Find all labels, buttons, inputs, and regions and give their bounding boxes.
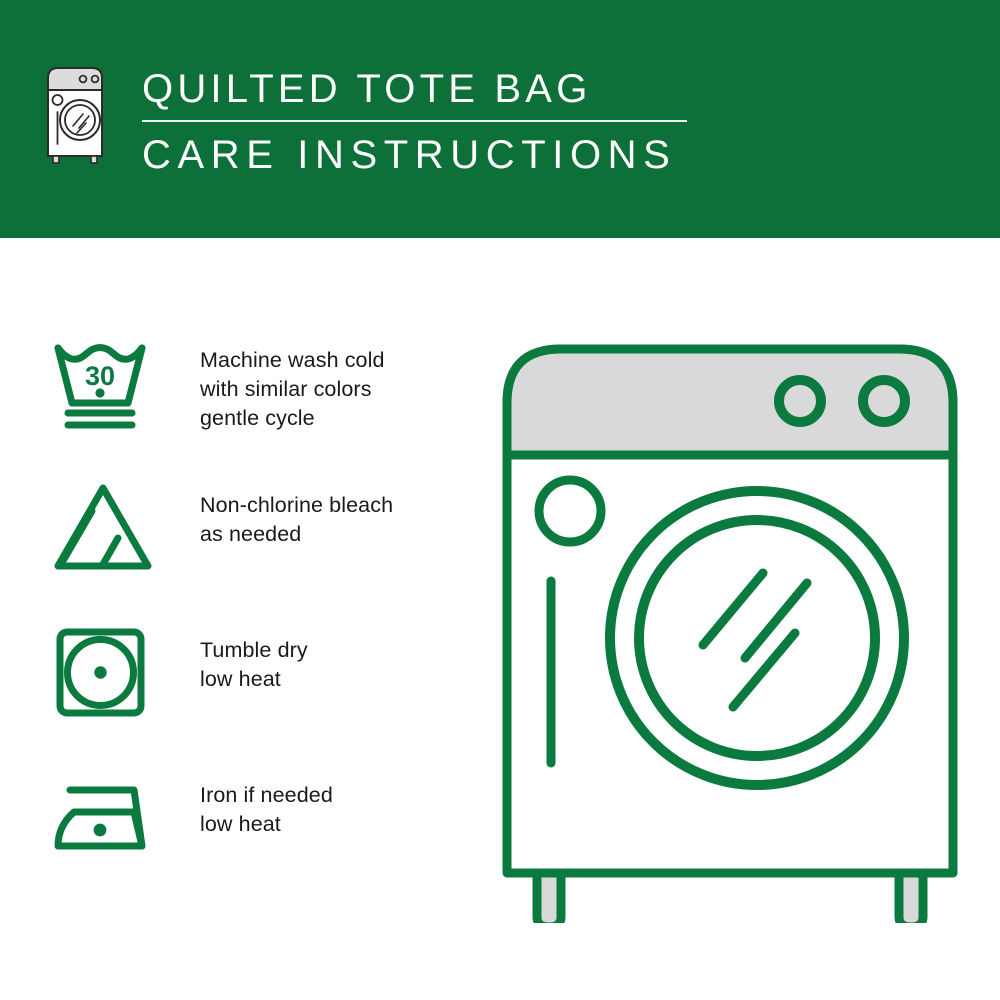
control-panel <box>507 349 953 455</box>
content-area: 30 Machine wash cold with similar colors… <box>0 238 1000 1000</box>
washer-leg-right <box>899 873 923 923</box>
front-load-washing-machine-illustration <box>495 333 965 923</box>
title-divider <box>142 120 687 122</box>
care-instruction-list: 30 Machine wash cold with similar colors… <box>48 333 468 913</box>
header-banner: QUILTED TOTE BAG CARE INSTRUCTIONS <box>0 0 1000 238</box>
washer-leg-left <box>537 873 561 923</box>
care-text-bleach: Non-chlorine bleach as needed <box>200 491 393 549</box>
care-row-machine-wash: 30 Machine wash cold with similar colors… <box>48 333 468 478</box>
care-row-iron: Iron if needed low heat <box>48 768 468 913</box>
title-block: QUILTED TOTE BAG CARE INSTRUCTIONS <box>142 62 687 180</box>
iron-one-dot-icon <box>48 768 158 868</box>
triangle-stripes-icon <box>48 478 158 578</box>
page-title: CARE INSTRUCTIONS <box>142 130 687 180</box>
care-text-tumble-dry: Tumble dry low heat <box>200 636 308 694</box>
wash-basin-30-gentle-icon: 30 <box>48 333 158 433</box>
care-row-tumble-dry: Tumble dry low heat <box>48 623 468 768</box>
tumble-dry-one-dot-icon <box>48 623 158 723</box>
care-text-iron: Iron if needed low heat <box>200 781 333 839</box>
care-row-bleach: Non-chlorine bleach as needed <box>48 478 468 623</box>
product-title: QUILTED TOTE BAG <box>142 64 687 114</box>
washing-machine-icon <box>42 62 114 164</box>
wash-temperature-label: 30 <box>85 361 115 391</box>
header-content: QUILTED TOTE BAG CARE INSTRUCTIONS <box>42 62 687 180</box>
care-text-machine-wash: Machine wash cold with similar colors ge… <box>200 346 385 433</box>
